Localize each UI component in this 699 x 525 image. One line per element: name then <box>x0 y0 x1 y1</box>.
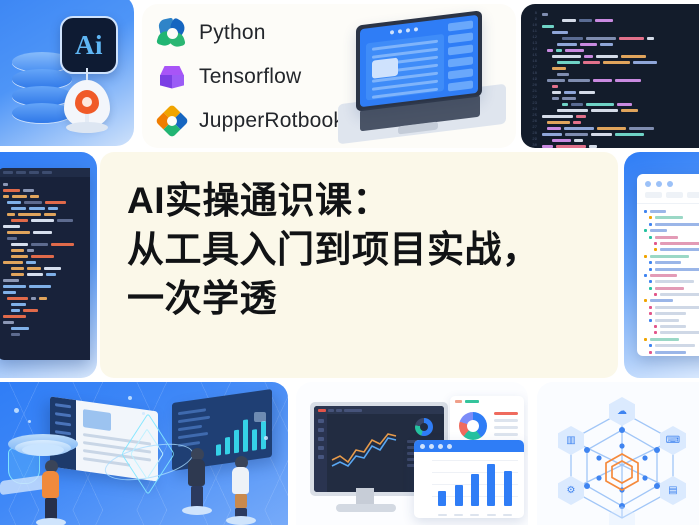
bullet <box>644 210 647 213</box>
code-token <box>3 285 26 288</box>
outline-row <box>644 338 699 341</box>
outline-text <box>650 255 689 258</box>
line-number: 25 <box>521 114 542 118</box>
code-token <box>7 237 17 240</box>
code-token <box>564 127 594 130</box>
code-token <box>547 79 565 82</box>
line-number: 20 <box>521 84 542 88</box>
code-token <box>12 195 27 198</box>
outline-row <box>644 312 699 315</box>
headline-line-3: 一次学透 <box>127 274 604 323</box>
code-token <box>565 133 588 136</box>
line-number: 12 <box>521 36 542 40</box>
code-token <box>552 67 566 70</box>
code-token <box>31 243 48 246</box>
bullet <box>654 242 657 245</box>
outline-text <box>655 319 679 322</box>
line-number: 16 <box>521 60 542 64</box>
axis-tick-labels <box>434 514 516 517</box>
code-token <box>591 133 612 136</box>
code-token <box>3 321 14 324</box>
code-token <box>3 279 19 282</box>
code-token <box>7 231 30 234</box>
outline-text <box>655 236 678 239</box>
code-token <box>571 103 583 106</box>
outline-row <box>644 210 699 213</box>
outline-text <box>660 331 699 334</box>
code-token <box>3 189 20 192</box>
code-token <box>26 261 36 264</box>
code-token <box>576 115 586 118</box>
line-chart-svg <box>330 424 402 472</box>
line-number: 30 <box>521 144 542 148</box>
code-lines <box>0 177 90 341</box>
node-glyph: ▥ <box>566 436 575 446</box>
code-token <box>552 139 571 142</box>
spark-dot <box>14 408 19 413</box>
code-token <box>600 43 613 46</box>
spark-dot <box>28 420 31 423</box>
cube-hologram <box>104 426 192 496</box>
bar <box>471 474 479 506</box>
bar-chart-plot <box>422 458 518 506</box>
tech-item-label: JupperRotbook <box>199 109 344 133</box>
bullet <box>644 299 647 302</box>
bar-group <box>434 462 516 506</box>
code-token <box>3 291 16 294</box>
outline-text <box>660 325 686 328</box>
code-token <box>11 255 28 258</box>
outline-text <box>650 274 677 277</box>
code-token <box>557 73 569 76</box>
code-editor-panel-top: 8910111213141516171819202122232425262728… <box>521 4 699 148</box>
bullet <box>649 236 652 239</box>
code-token <box>542 25 554 28</box>
outline-row <box>644 306 699 309</box>
code-token <box>11 273 24 276</box>
code-token <box>30 195 39 198</box>
outline-row <box>644 268 699 271</box>
bullet <box>649 268 652 271</box>
bar <box>216 444 221 456</box>
code-token <box>556 145 586 148</box>
outline-row <box>644 255 699 258</box>
outline-text <box>655 287 684 290</box>
line-number: 19 <box>521 78 542 82</box>
tech-list: Python Tensorflow JupperRotbook <box>158 16 344 137</box>
code-token <box>11 327 29 330</box>
outline-text <box>655 351 686 354</box>
window-dots <box>637 174 699 192</box>
code-token <box>568 79 590 82</box>
code-token <box>11 249 24 252</box>
code-token <box>27 273 43 276</box>
line-number: 21 <box>521 90 542 94</box>
code-token <box>552 55 581 58</box>
line-number: 8 <box>521 12 542 16</box>
bullet <box>649 344 652 347</box>
code-token <box>586 37 616 40</box>
code-token <box>31 255 54 258</box>
isometric-scene-panel <box>0 382 288 525</box>
outline-text <box>655 216 683 219</box>
code-token <box>580 43 597 46</box>
code-token <box>7 213 15 216</box>
ai-badge-label: Ai <box>75 30 103 61</box>
line-number: 15 <box>521 54 542 58</box>
outline-text <box>650 210 666 213</box>
bullet <box>649 306 652 309</box>
person-right <box>232 456 256 525</box>
outline-row <box>644 261 699 264</box>
monitor-foot <box>336 504 396 512</box>
bullet <box>654 331 657 334</box>
mini-ide-window <box>0 168 90 360</box>
code-token <box>619 37 644 40</box>
headline-line-1: AI实操通识课： <box>127 176 604 225</box>
bar <box>243 419 248 452</box>
code-token <box>584 55 593 58</box>
headline-line-2: 从工具入门到项目实战， <box>127 225 604 274</box>
tech-item-tensorflow: Tensorflow <box>158 60 344 93</box>
line-number: 9 <box>521 18 542 22</box>
code-lines: 8910111213141516171819202122232425262728… <box>521 4 699 148</box>
outline-row <box>644 287 699 290</box>
line-chart <box>330 424 402 472</box>
code-token <box>552 97 559 100</box>
line-number: 23 <box>521 102 542 106</box>
code-token <box>18 213 41 216</box>
line-number: 24 <box>521 108 542 112</box>
person-left <box>42 460 66 525</box>
code-token <box>557 43 577 46</box>
outline-row <box>644 280 699 283</box>
code-token <box>621 109 638 112</box>
code-token <box>46 273 56 276</box>
code-token <box>27 267 41 270</box>
outline-text <box>650 299 673 302</box>
bullet <box>649 280 652 283</box>
code-token <box>11 267 24 270</box>
code-token <box>615 79 641 82</box>
bullet <box>649 319 652 322</box>
outline-text <box>660 242 699 245</box>
code-token <box>589 145 597 148</box>
bar <box>487 464 495 506</box>
outline-row <box>644 299 699 302</box>
code-token <box>573 121 581 124</box>
python-logo-icon <box>158 19 186 47</box>
code-token <box>39 297 47 300</box>
code-token <box>33 231 52 234</box>
code-token <box>23 189 34 192</box>
bullet <box>644 255 647 258</box>
code-token <box>11 309 20 312</box>
course-poster: Ai Python Tensorflow <box>0 0 699 525</box>
bullet <box>649 216 652 219</box>
code-token <box>29 207 45 210</box>
spark-dot <box>264 436 268 440</box>
outline-row <box>644 242 699 245</box>
bar <box>225 437 230 455</box>
line-number: 27 <box>521 126 542 130</box>
code-token <box>542 133 562 136</box>
outline-row <box>644 331 699 334</box>
code-token <box>557 109 588 112</box>
donut-chart-small <box>415 418 433 436</box>
line-number: 10 <box>521 24 542 28</box>
bullet <box>649 261 652 264</box>
code-token <box>7 201 21 204</box>
code-token <box>542 13 548 16</box>
code-editor-panel-left <box>0 152 97 378</box>
code-token <box>562 37 583 40</box>
code-token <box>23 309 38 312</box>
code-token <box>45 201 66 204</box>
node-glyph: ⚙ <box>567 486 576 496</box>
code-token <box>51 243 74 246</box>
outline-text <box>655 268 699 271</box>
code-token <box>591 109 618 112</box>
code-token <box>3 183 8 186</box>
code-token <box>3 261 23 264</box>
code-token <box>542 145 553 148</box>
code-token <box>31 219 54 222</box>
network-panel: ☁ ⌨ ▤ ⚙ ▥ <box>537 382 699 525</box>
outline-row <box>644 236 699 239</box>
bar <box>438 491 446 506</box>
code-token <box>48 207 58 210</box>
outline-row <box>644 248 699 251</box>
bar <box>455 485 463 506</box>
outline-text <box>655 306 699 309</box>
code-token <box>562 103 568 106</box>
jupyter-logo-icon <box>158 107 186 135</box>
line-number: 11 <box>521 30 542 34</box>
outline-row <box>644 319 699 322</box>
code-token <box>557 61 580 64</box>
bar <box>234 430 239 454</box>
tech-item-label: Tensorflow <box>199 65 301 89</box>
code-line: 30 <box>521 143 699 148</box>
node-glyph: ▤ <box>668 486 677 496</box>
node-glyph: ☁ <box>617 407 627 417</box>
code-token <box>556 49 562 52</box>
line-number: 26 <box>521 120 542 124</box>
code-token <box>586 103 614 106</box>
outline-text <box>650 338 679 341</box>
code-token <box>542 115 573 118</box>
outline-text <box>655 261 681 264</box>
outline-row <box>644 274 699 277</box>
code-token <box>633 61 657 64</box>
code-token <box>574 139 583 142</box>
bullet <box>649 312 652 315</box>
code-token <box>562 19 576 22</box>
tech-item-label: Python <box>199 21 266 45</box>
code-token <box>3 315 26 318</box>
ai-data-panel: Ai <box>0 0 134 146</box>
pin-base <box>66 122 108 133</box>
document-tabs <box>637 192 699 204</box>
outline-row <box>644 325 699 328</box>
tech-stack-card: Python Tensorflow JupperRotbook <box>142 4 516 148</box>
code-token <box>31 297 36 300</box>
headline-banner: AI实操通识课： 从工具入门到项目实战， 一次学透 <box>100 152 618 378</box>
bullet <box>649 223 652 226</box>
legend-lines <box>494 412 518 440</box>
code-token <box>44 267 61 270</box>
line-number: 14 <box>521 48 542 52</box>
donut-chart <box>459 412 487 440</box>
code-token <box>564 91 576 94</box>
code-token <box>547 49 553 52</box>
document-window <box>637 174 699 356</box>
code-token <box>547 127 561 130</box>
code-token <box>7 297 28 300</box>
bullet <box>649 351 652 354</box>
line-number: 13 <box>521 42 542 46</box>
code-token <box>595 19 613 22</box>
code-token <box>11 219 28 222</box>
tensorflow-logo-icon <box>158 63 186 91</box>
code-token <box>552 91 561 94</box>
code-token <box>617 103 632 106</box>
code-token <box>29 285 51 288</box>
outline-text <box>655 223 699 226</box>
outline-row <box>644 344 699 347</box>
line-number: 28 <box>521 132 542 136</box>
outline-text <box>660 293 699 296</box>
tech-item-python: Python <box>158 16 344 49</box>
bullet <box>654 293 657 296</box>
document-panel <box>624 152 699 378</box>
hologram-podium <box>8 434 78 458</box>
bullet <box>644 338 647 341</box>
page-title: AI实操通识课： 从工具入门到项目实战， 一次学透 <box>127 176 604 323</box>
line-number: 18 <box>521 72 542 76</box>
line-number: 22 <box>521 96 542 100</box>
outline-row <box>644 293 699 296</box>
bullet <box>654 248 657 251</box>
code-token <box>603 61 630 64</box>
code-token <box>596 55 618 58</box>
bullet <box>654 325 657 328</box>
code-token <box>44 213 56 216</box>
outline-text <box>655 280 694 283</box>
outline-text <box>655 344 695 347</box>
person-center-right <box>188 448 212 515</box>
outline-text <box>655 312 686 315</box>
spark-dot <box>128 396 132 400</box>
node-glyph: ⌨ <box>666 436 680 446</box>
laptop-illustration <box>338 18 506 136</box>
bar-chart-window <box>414 440 524 518</box>
code-token <box>593 79 612 82</box>
bullet <box>644 274 647 277</box>
bullet <box>649 287 652 290</box>
code-token <box>3 225 20 228</box>
code-token <box>565 49 584 52</box>
code-token <box>27 249 34 252</box>
code-token <box>24 201 42 204</box>
code-token <box>11 303 26 306</box>
dashboard-panel <box>296 382 528 525</box>
outline-row <box>644 216 699 219</box>
bar <box>504 471 512 506</box>
code-token <box>583 61 600 64</box>
bullet <box>644 229 647 232</box>
code-token <box>579 91 595 94</box>
line-number: 17 <box>521 66 542 70</box>
ai-app-badge-icon: Ai <box>60 16 118 74</box>
spark-dot <box>142 412 145 415</box>
code-token <box>552 85 558 88</box>
code-token <box>552 31 568 34</box>
code-token <box>562 97 576 100</box>
tech-item-jupyter: JupperRotbook <box>158 104 344 137</box>
code-token <box>579 19 592 22</box>
code-token <box>597 127 626 130</box>
outline-row <box>644 229 699 232</box>
document-outline <box>637 204 699 354</box>
code-token <box>647 37 654 40</box>
line-number: 29 <box>521 138 542 142</box>
code-token <box>615 133 644 136</box>
outline-row <box>644 223 699 226</box>
ide-toolbar <box>0 168 90 177</box>
outline-text <box>660 248 699 251</box>
code-token <box>629 127 654 130</box>
code-token <box>621 55 646 58</box>
code-token <box>11 243 28 246</box>
code-line <box>3 331 85 337</box>
code-token <box>3 195 9 198</box>
outline-text <box>650 229 667 232</box>
code-token <box>547 121 570 124</box>
bar <box>252 429 257 451</box>
code-token <box>57 219 73 222</box>
code-token <box>11 333 20 336</box>
spark-card <box>254 412 266 422</box>
outline-row <box>644 351 699 354</box>
code-token <box>11 207 26 210</box>
